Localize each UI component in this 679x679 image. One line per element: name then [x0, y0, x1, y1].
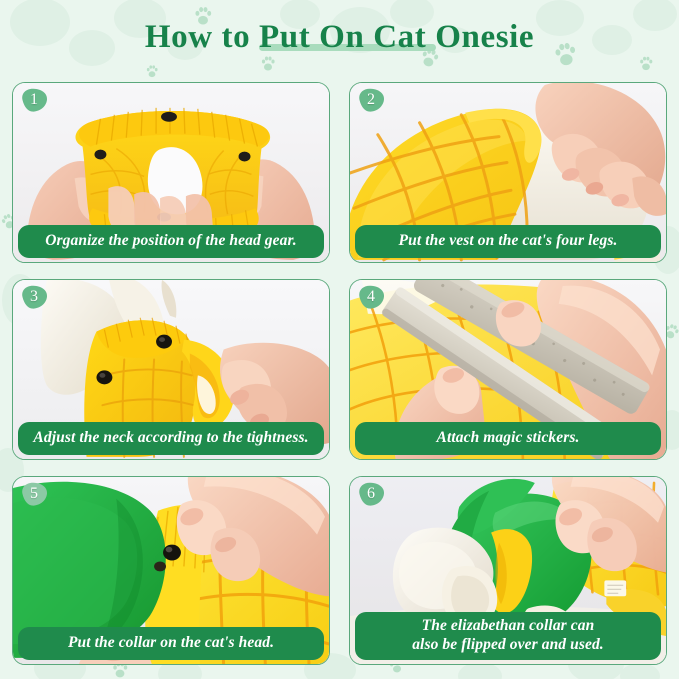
- caption-line: Adjust the neck according to the tightne…: [24, 429, 318, 447]
- step-caption-6: The elizabethan collar can also be flipp…: [355, 612, 661, 660]
- step-caption-4: Attach magic stickers.: [355, 422, 661, 455]
- step-caption-1: Organize the position of the head gear.: [18, 225, 324, 258]
- step-badge-6: 6: [356, 481, 386, 508]
- caption-line: Organize the position of the head gear.: [24, 232, 318, 250]
- caption-line: Put the collar on the cat's head.: [24, 634, 318, 652]
- page-title: How to Put On Cat Onesie: [145, 19, 534, 56]
- step-panel-5: 5 Put the collar on the cat's head.: [12, 476, 330, 665]
- step-badge-5: 5: [19, 481, 49, 508]
- step-badge-2: 2: [356, 87, 386, 114]
- step-panel-3: 3 Adjust the neck according to the tight…: [12, 279, 330, 460]
- step-number-3: 3: [19, 284, 49, 311]
- step-number-1: 1: [19, 87, 49, 114]
- step-caption-3: Adjust the neck according to the tightne…: [18, 422, 324, 455]
- step-caption-2: Put the vest on the cat's four legs.: [355, 225, 661, 258]
- step-number-2: 2: [356, 87, 386, 114]
- caption-line: The elizabethan collar can: [361, 617, 655, 635]
- step-caption-5: Put the collar on the cat's head.: [18, 627, 324, 660]
- step-number-5: 5: [19, 481, 49, 508]
- caption-line: Put the vest on the cat's four legs.: [361, 232, 655, 250]
- caption-line: Attach magic stickers.: [361, 429, 655, 447]
- step-panel-4: 4 Attach magic stickers.: [349, 279, 667, 460]
- caption-line: also be flipped over and used.: [361, 636, 655, 654]
- step-badge-1: 1: [19, 87, 49, 114]
- step-number-4: 4: [356, 284, 386, 311]
- page-header: How to Put On Cat Onesie: [0, 0, 679, 74]
- steps-grid: 1 Organize the position of the head gear…: [12, 82, 667, 667]
- step-number-6: 6: [356, 481, 386, 508]
- step-panel-2: 2 Put the vest on the cat's four legs.: [349, 82, 667, 263]
- step-badge-3: 3: [19, 284, 49, 311]
- step-panel-1: 1 Organize the position of the head gear…: [12, 82, 330, 263]
- step-panel-6: 6 The elizabethan collar can also be fli…: [349, 476, 667, 665]
- step-badge-4: 4: [356, 284, 386, 311]
